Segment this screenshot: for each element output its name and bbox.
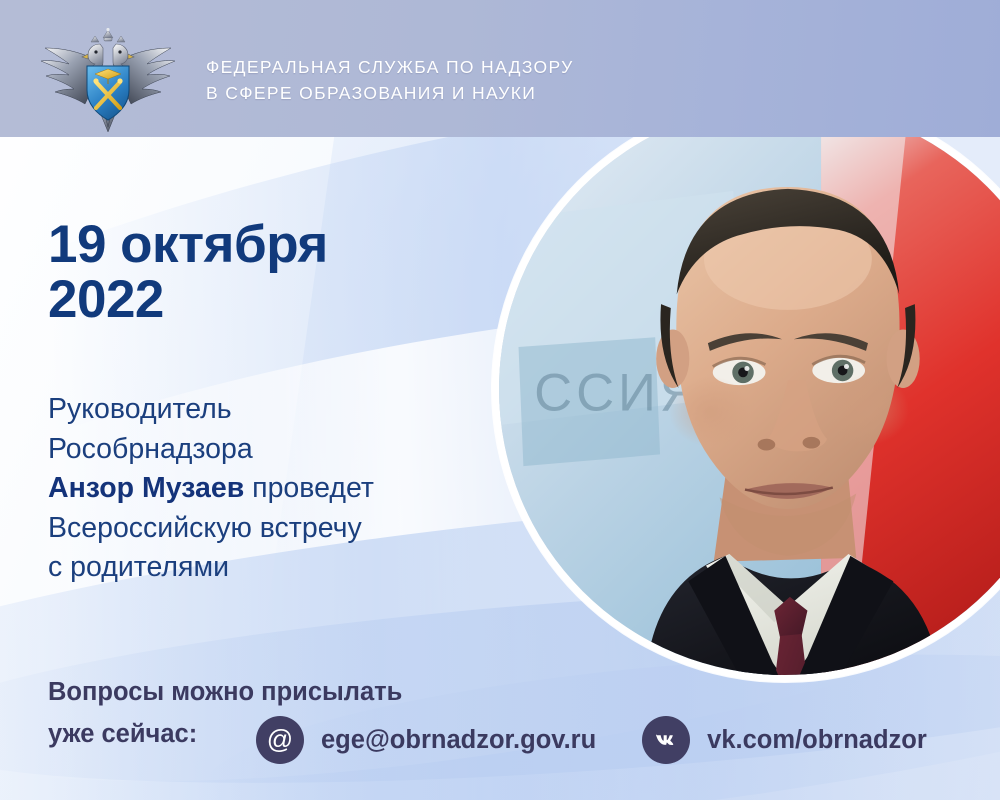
svg-text:@: @ (267, 724, 293, 754)
poster-canvas: ССИЯ (0, 0, 1000, 800)
site-header: ФЕДЕРАЛЬНАЯ СЛУЖБА ПО НАДЗОРУ В СФЕРЕ ОБ… (0, 0, 1000, 137)
at-sign-icon: @ (256, 716, 304, 764)
email-address[interactable]: ege@obrnadzor.gov.ru (321, 725, 596, 755)
contact-email[interactable]: @ ege@obrnadzor.gov.ru (256, 716, 596, 764)
vk-icon (642, 716, 690, 764)
announcement-line-2: Рособрнадзора (48, 433, 253, 465)
contacts-row: @ ege@obrnadzor.gov.ru vk.com/obrnadzor (256, 716, 927, 764)
anzor-muzaev-portrait: ССИЯ (499, 103, 1000, 675)
header-title: ФЕДЕРАЛЬНАЯ СЛУЖБА ПО НАДЗОРУ В СФЕРЕ ОБ… (206, 54, 574, 106)
rosobrnadzor-emblem-icon (33, 28, 183, 133)
announcement-line-4: Всероссийскую встречу (48, 512, 362, 544)
announcement-line-3-rest: проведет (244, 472, 374, 504)
vk-link[interactable]: vk.com/obrnadzor (707, 725, 927, 755)
announcement-line-1: Руководитель (48, 393, 232, 425)
event-date: 19 октября 2022 (48, 217, 328, 327)
contact-vk[interactable]: vk.com/obrnadzor (642, 716, 927, 764)
announcement-text: Руководитель Рособрнадзора Анзор Музаев … (48, 390, 518, 588)
announcement-line-5: с родителями (48, 551, 229, 583)
speaker-name: Анзор Музаев (48, 472, 244, 504)
main-content: 19 октября 2022 Руководитель Рособрнадзо… (0, 137, 520, 800)
